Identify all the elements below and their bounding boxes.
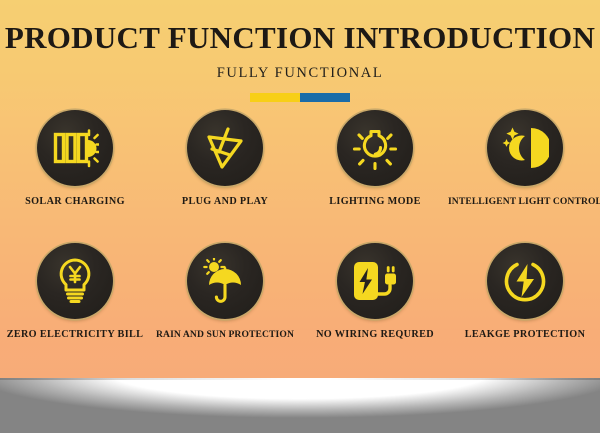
page-title: PRODUCT FUNCTION INTRODUCTION [0, 0, 600, 55]
feature-label: LIGHTING MODE [329, 196, 420, 207]
light-bulb-rays-icon [352, 125, 398, 171]
feature-badge [487, 243, 563, 319]
feature-badge [37, 110, 113, 186]
product-function-poster: PRODUCT FUNCTION INTRODUCTION FULLY FUNC… [0, 0, 600, 433]
plug-and-play-icon [203, 125, 247, 171]
umbrella-sun-icon [201, 258, 249, 304]
feature-item-intelligent-light-control: INTELLIGENT LIGHT CONTROL [450, 110, 600, 243]
feature-label: SOLAR CHARGING [25, 196, 125, 207]
feature-label: INTELLIGENT LIGHT CONTROL [448, 196, 600, 207]
bulb-yen-icon [55, 257, 95, 305]
feature-item-no-wiring-required: NO WIRING REQURED [300, 243, 450, 376]
footer-strip [0, 378, 600, 433]
feature-item-zero-electricity-bill: ZERO ELECTRICITY BILL [0, 243, 150, 376]
divider-segment-blue [300, 93, 350, 102]
feature-label: RAIN AND SUN PROTECTION [156, 329, 294, 340]
feature-badge [337, 110, 413, 186]
solar-panel-sun-icon [51, 126, 99, 170]
feature-badge [37, 243, 113, 319]
feature-row: ZERO ELECTRICITY BILL [0, 243, 600, 376]
feature-item-lighting-mode: LIGHTING MODE [300, 110, 450, 243]
feature-badge [487, 110, 563, 186]
moon-stars-icon [501, 125, 549, 171]
page-subtitle: FULLY FUNCTIONAL [0, 55, 600, 82]
feature-row: SOLAR CHARGING PLUG AND [0, 110, 600, 243]
feature-item-leakage-protection: LEAKGE PROTECTION [450, 243, 600, 376]
feature-item-rain-and-sun-protection: RAIN AND SUN PROTECTION [150, 243, 300, 376]
feature-badge [337, 243, 413, 319]
feature-badge [187, 110, 263, 186]
footer-edge-line [0, 378, 600, 380]
divider-segment-yellow [250, 93, 300, 102]
feature-label: LEAKGE PROTECTION [465, 329, 586, 340]
title-divider [250, 93, 350, 102]
feature-label: NO WIRING REQURED [316, 329, 434, 340]
bolt-circle-icon [502, 258, 548, 304]
feature-label: ZERO ELECTRICITY BILL [7, 329, 144, 340]
feature-item-solar-charging: SOLAR CHARGING [0, 110, 150, 243]
feature-badge [187, 243, 263, 319]
battery-bolt-plug-icon [350, 258, 400, 304]
feature-grid: SOLAR CHARGING PLUG AND [0, 110, 600, 376]
poster-header: PRODUCT FUNCTION INTRODUCTION FULLY FUNC… [0, 0, 600, 102]
feature-label: PLUG AND PLAY [182, 196, 268, 207]
feature-item-plug-and-play: PLUG AND PLAY [150, 110, 300, 243]
